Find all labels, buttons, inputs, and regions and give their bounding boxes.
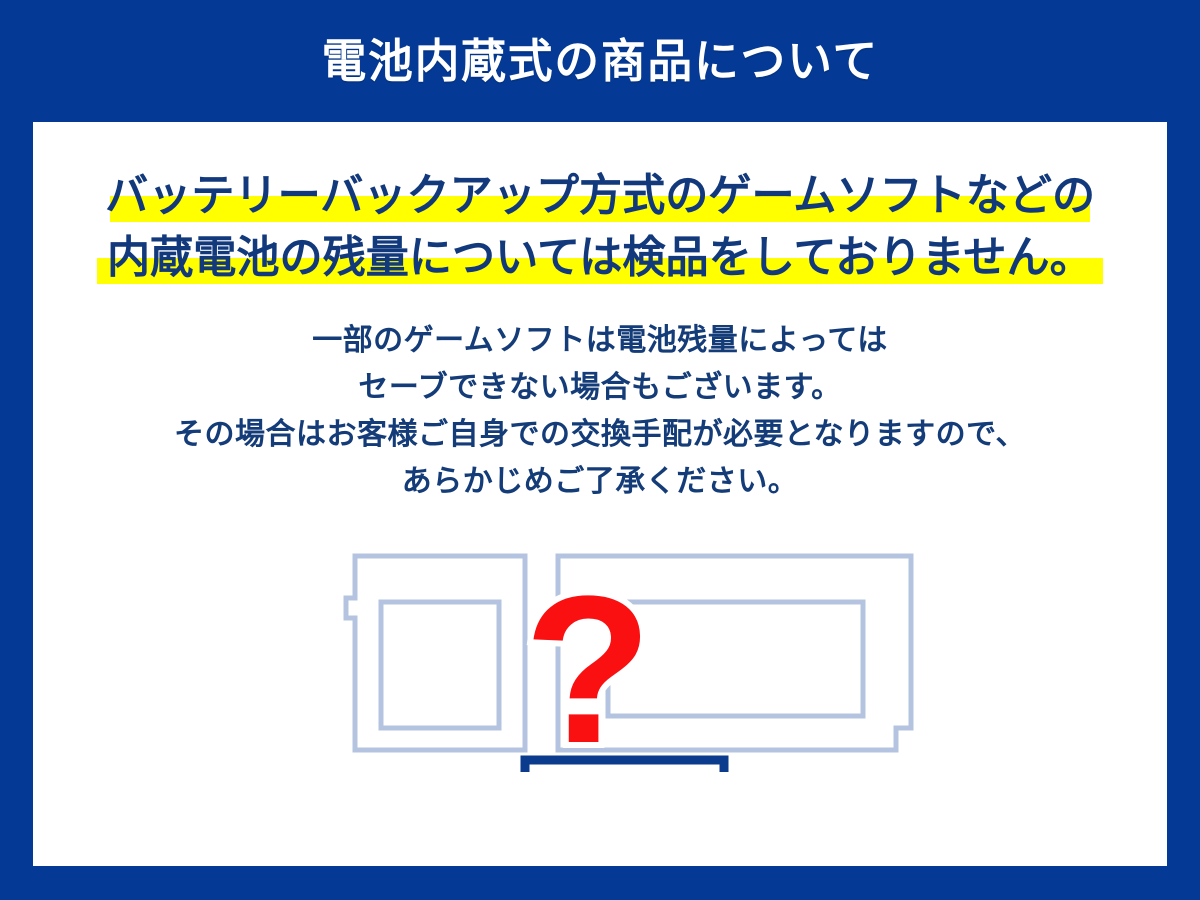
body-paragraph: 一部のゲームソフトは電池残量によっては セーブできない場合もございます。 その場… — [33, 317, 1167, 505]
slide-root: 電池内蔵式の商品について バッテリーバックアップ方式のゲームソフトなどの 内蔵電… — [0, 0, 1200, 900]
headline-line-2: 内蔵電池の残量については検品をしておりません。 — [33, 227, 1167, 289]
question-mark-glyph: ? — [524, 552, 652, 772]
headline-text-1: バッテリーバックアップ方式のゲームソフトなどの — [105, 165, 1095, 227]
illustration-area: ? — [288, 542, 918, 772]
body-line-4: あらかじめご了承ください。 — [33, 458, 1167, 505]
game-cartridge-portrait-icon — [346, 556, 525, 750]
cartridge-battery-illustration: ? — [288, 542, 918, 772]
headline-line-1: バッテリーバックアップ方式のゲームソフトなどの — [33, 165, 1167, 227]
slide-header: 電池内蔵式の商品について — [0, 0, 1200, 122]
body-line-2: セーブできない場合もございます。 — [33, 364, 1167, 411]
question-mark-icon: ? — [524, 552, 652, 772]
headline-block: バッテリーバックアップ方式のゲームソフトなどの 内蔵電池の残量については検品をし… — [33, 165, 1167, 289]
content-card: バッテリーバックアップ方式のゲームソフトなどの 内蔵電池の残量については検品をし… — [33, 122, 1167, 866]
body-line-3: その場合はお客様ご自身での交換手配が必要となりますので、 — [33, 411, 1167, 458]
body-line-1: 一部のゲームソフトは電池残量によっては — [33, 317, 1167, 364]
page-title: 電池内蔵式の商品について — [321, 38, 878, 84]
headline-text-2: 内蔵電池の残量については検品をしておりません。 — [107, 227, 1093, 289]
